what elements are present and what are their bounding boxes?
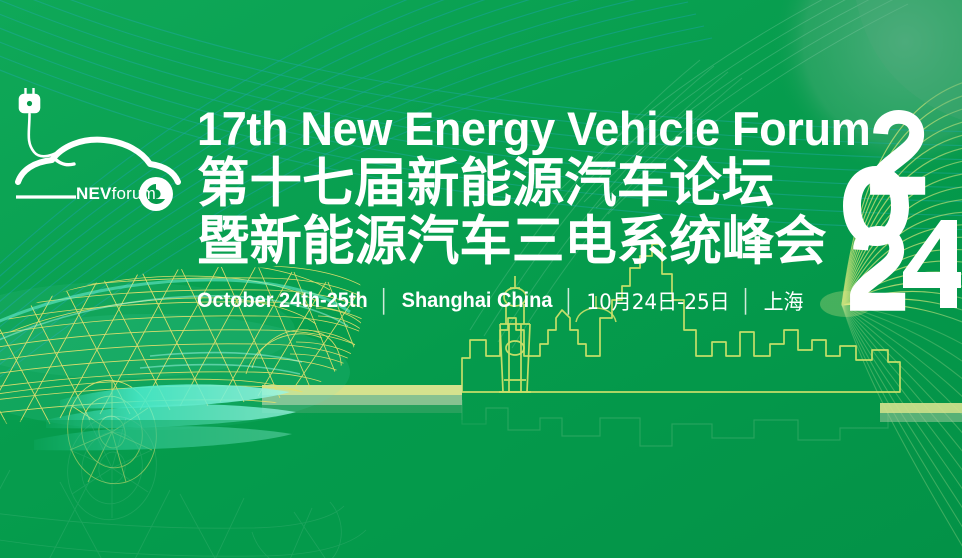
logo-wordmark: NEVforum xyxy=(76,184,156,204)
year-digit-2-b xyxy=(850,226,905,311)
meta-separator-2: │ xyxy=(563,288,576,314)
year-digit-4 xyxy=(903,220,961,308)
car-outline-icon xyxy=(18,140,178,182)
year-2024 xyxy=(843,108,961,318)
meta-separator-3: │ xyxy=(740,288,753,314)
meta-location-cn: 上海 xyxy=(764,286,804,316)
mirror-detail xyxy=(54,158,74,165)
title-english: 17th New Energy Vehicle Forum xyxy=(197,104,821,154)
event-poster: NEVforum 17th New Energy Vehicle Forum 第… xyxy=(0,0,962,558)
year-artwork xyxy=(843,108,961,318)
title-chinese-line-2: 暨新能源汽车三电系统峰会 xyxy=(197,212,841,272)
meta-location-en: Shanghai China xyxy=(402,289,553,313)
meta-separator-1: │ xyxy=(378,288,391,314)
logo-brand-main: NEV xyxy=(76,184,112,203)
meta-date-en: October 24th-25th xyxy=(197,289,368,313)
title-chinese-line-1: 第十七届新能源汽车论坛 xyxy=(197,154,841,214)
event-meta-line: October 24th-25th │ Shanghai China │ 10月… xyxy=(197,286,815,316)
logo-brand-sub: forum xyxy=(112,184,156,203)
charging-plug-icon xyxy=(20,88,39,112)
nev-forum-logo[interactable]: NEVforum xyxy=(8,78,188,218)
meta-date-cn: 10月24日-25日 xyxy=(586,286,729,316)
title-block: 17th New Energy Vehicle Forum 第十七届新能源汽车论… xyxy=(197,104,847,316)
